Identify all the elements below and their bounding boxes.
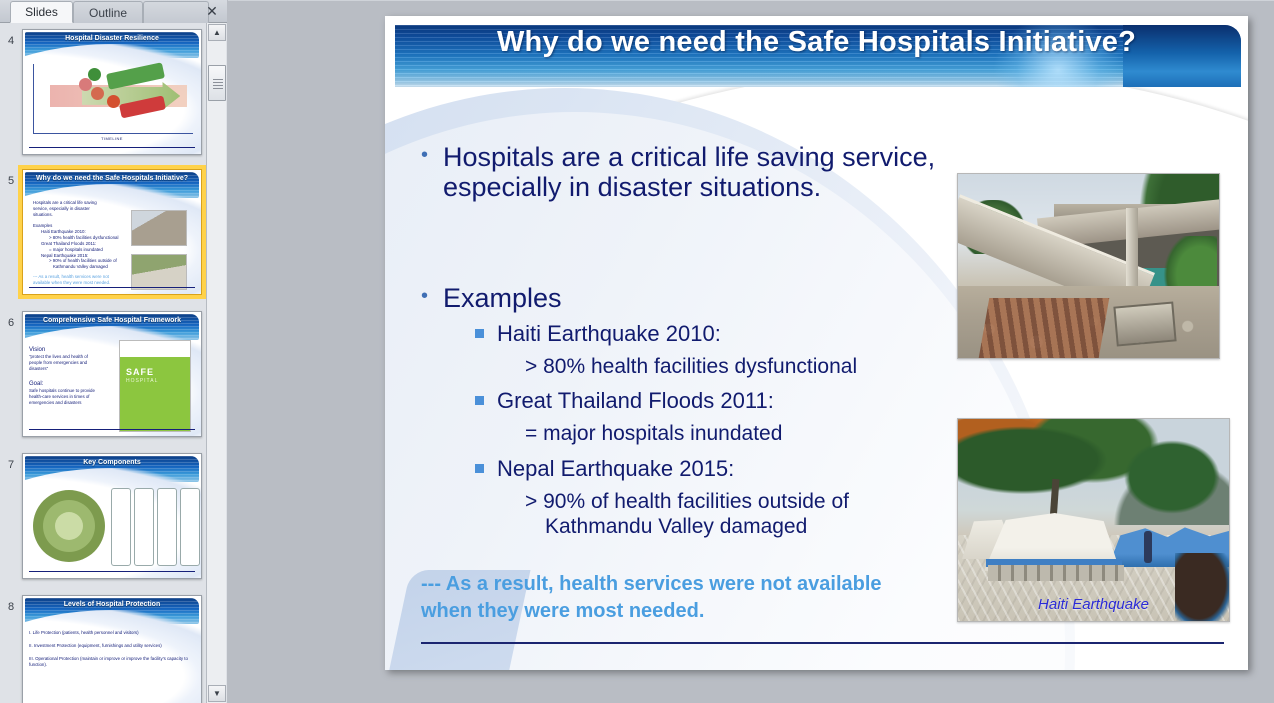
mini-title: Hospital Disaster Resilience [23, 35, 201, 42]
scroll-down-icon[interactable]: ▼ [208, 685, 226, 702]
bullet-text: Hospitals are a critical life saving ser… [443, 142, 953, 202]
slide-thumbnail-4[interactable]: Hospital Disaster Resilience [22, 29, 202, 155]
list-item[interactable]: 8 Levels of Hospital Protection I. Life … [0, 595, 205, 703]
grip-icon [213, 79, 223, 87]
bullet-dot-icon: • [421, 283, 443, 310]
sub-bullet-thailand: Great Thailand Floods 2011: [475, 388, 774, 414]
mini-rule [29, 147, 195, 148]
slide-number: 4 [0, 29, 22, 47]
photo1-crate [1113, 301, 1176, 346]
square-bullet-icon [475, 321, 497, 338]
mini-slide: Why do we need the Safe Hospitals Initia… [23, 170, 201, 294]
slide-thumbnail-7[interactable]: Key Components [22, 453, 202, 579]
close-icon[interactable]: ✕ [203, 3, 221, 20]
slide-navigator-panel: Slides Outline ✕ 4 Hospital Disaster Res… [0, 0, 227, 703]
photo2-tree-canopy-right [1107, 427, 1230, 527]
mini-title: Comprehensive Safe Hospital Framework [23, 317, 201, 324]
slide-thumbnail-6[interactable]: Comprehensive Safe Hospital Framework Vi… [22, 311, 202, 437]
photo-collapsed-building[interactable] [957, 173, 1220, 359]
slide-number: 6 [0, 311, 22, 329]
tab-slides[interactable]: Slides [10, 1, 73, 23]
mini-axis-label: TIMELINE [29, 136, 195, 141]
mini-title: Levels of Hospital Protection [23, 601, 201, 608]
bullet-item-2: • Examples [421, 283, 841, 313]
list-item[interactable]: 5 Why do we need the Safe Hospitals Init… [0, 169, 205, 301]
powerpoint-window: Slides Outline ✕ 4 Hospital Disaster Res… [0, 0, 1274, 703]
mini-slide: Comprehensive Safe Hospital Framework Vi… [23, 312, 201, 436]
slide-number: 5 [0, 169, 22, 187]
sub-bullet-text: Nepal Earthquake 2015: [497, 456, 734, 482]
slide-editor-area[interactable]: Why do we need the Safe Hospitals Initia… [228, 0, 1274, 703]
bullet-text: Examples [443, 283, 562, 313]
sub-detail-haiti: > 80% health facilities dysfunctional [525, 354, 857, 379]
mini-slide: Hospital Disaster Resilience [23, 30, 201, 154]
list-item[interactable]: 4 Hospital Disaster Resilience [0, 29, 205, 161]
current-slide[interactable]: Why do we need the Safe Hospitals Initia… [385, 16, 1248, 670]
tab-outline[interactable]: Outline [73, 1, 143, 23]
navigator-scrollbar[interactable]: ▲ ▼ [206, 23, 226, 703]
square-bullet-icon [475, 456, 497, 473]
tab-slides-label: Slides [25, 5, 58, 19]
photo1-timber-beams [979, 298, 1110, 358]
mini-photo-1 [131, 210, 187, 246]
list-item[interactable]: 6 Comprehensive Safe Hospital Framework … [0, 311, 205, 443]
square-bullet-icon [475, 388, 497, 405]
conclusion-text: --- As a result, health services were no… [421, 571, 891, 625]
mini-title: Why do we need the Safe Hospitals Initia… [23, 175, 201, 182]
mini-slide: Levels of Hospital Protection I. Life Pr… [23, 596, 201, 703]
mini-body [29, 484, 195, 568]
bullet-dot-icon: • [421, 142, 443, 169]
mini-text: I. Life Protection (patients, health per… [29, 630, 195, 636]
mini-cover-image: SAFE HOSPITAL [119, 340, 191, 432]
slide-number: 7 [0, 453, 22, 471]
mini-rule [29, 287, 195, 288]
slide-thumbnail-5[interactable]: Why do we need the Safe Hospitals Initia… [22, 169, 202, 295]
slide-thumbnail-8[interactable]: Levels of Hospital Protection I. Life Pr… [22, 595, 202, 703]
mini-body: TIMELINE [29, 60, 195, 144]
scrollbar-thumb[interactable] [208, 65, 226, 101]
photo2-standing-person [1144, 531, 1152, 563]
sub-bullet-nepal: Nepal Earthquake 2015: [475, 456, 734, 482]
divider [228, 0, 1274, 1]
sub-bullet-text: Haiti Earthquake 2010: [497, 321, 721, 347]
bullet-item-1: • Hospitals are a critical life saving s… [421, 142, 981, 202]
list-item[interactable]: 7 Key Components [0, 453, 205, 585]
photo-caption: Haiti Earthquake [958, 596, 1229, 613]
mini-rule [29, 571, 195, 572]
scroll-up-icon[interactable]: ▲ [208, 24, 226, 41]
sub-detail-thailand: = major hospitals inundated [525, 421, 782, 446]
navigator-tabstrip: Slides Outline ✕ [0, 0, 227, 23]
mini-text: II. Investment Protection (equipment, fu… [29, 643, 195, 649]
photo2-cots [988, 565, 1124, 581]
mini-text: III. Operational Protection (maintain or… [29, 656, 195, 668]
scroll-down-glyph: ▼ [213, 689, 221, 698]
bottom-divider [421, 642, 1224, 644]
tabstrip-filler [143, 1, 209, 23]
sub-bullet-haiti: Haiti Earthquake 2010: [475, 321, 721, 347]
sub-detail-nepal: > 90% of health facilities outside of Ka… [525, 489, 945, 539]
mini-title: Key Components [23, 459, 201, 466]
slide-canvas: Why do we need the Safe Hospitals Initia… [385, 16, 1248, 670]
photo-tent-camp[interactable]: Haiti Earthquake [957, 418, 1230, 622]
mini-body: I. Life Protection (patients, health per… [29, 626, 195, 703]
sub-bullet-text: Great Thailand Floods 2011: [497, 388, 774, 414]
thumbnail-list[interactable]: 4 Hospital Disaster Resilience [0, 23, 227, 703]
scroll-up-glyph: ▲ [213, 28, 221, 37]
tab-outline-label: Outline [89, 6, 127, 20]
mini-rule [29, 429, 195, 430]
slide-number: 8 [0, 595, 22, 613]
mini-slide: Key Components [23, 454, 201, 578]
close-icon-glyph: ✕ [206, 3, 218, 20]
mini-photo-2 [131, 254, 187, 290]
